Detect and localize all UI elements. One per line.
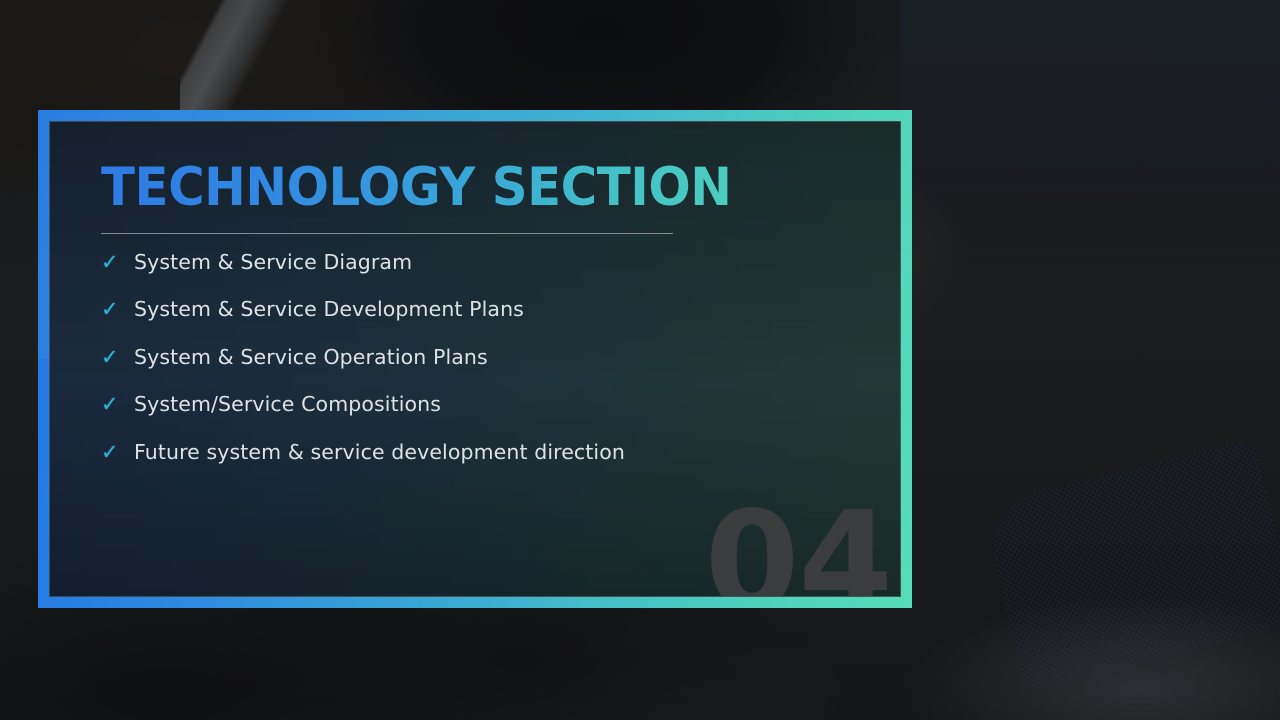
list-item: ✓ System & Service Operation Plans bbox=[101, 345, 900, 393]
list-item: ✓ System & Service Diagram bbox=[101, 250, 900, 298]
check-icon: ✓ bbox=[101, 252, 134, 273]
page-title: TECHNOLOGY SECTION bbox=[101, 160, 852, 216]
list-item-label: System & Service Development Plans bbox=[134, 297, 524, 321]
bullet-list: ✓ System & Service Diagram ✓ System & Se… bbox=[101, 250, 900, 488]
gradient-frame-border: 04 TECHNOLOGY SECTION ✓ System & Service… bbox=[38, 110, 912, 608]
list-item: ✓ System/Service Compositions bbox=[101, 392, 900, 440]
list-item-label: System/Service Compositions bbox=[134, 392, 441, 416]
list-item-label: System & Service Diagram bbox=[134, 250, 412, 274]
section-number: 04 bbox=[705, 494, 892, 597]
list-item-label: Future system & service development dire… bbox=[134, 440, 625, 464]
slide-content: TECHNOLOGY SECTION ✓ System & Service Di… bbox=[50, 122, 900, 487]
title-divider bbox=[101, 233, 673, 234]
check-icon: ✓ bbox=[101, 442, 134, 463]
list-item-label: System & Service Operation Plans bbox=[134, 345, 488, 369]
check-icon: ✓ bbox=[101, 347, 134, 368]
list-item: ✓ Future system & service development di… bbox=[101, 440, 900, 488]
check-icon: ✓ bbox=[101, 299, 134, 320]
presentation-slide: 04 TECHNOLOGY SECTION ✓ System & Service… bbox=[0, 0, 1280, 720]
content-panel: 04 TECHNOLOGY SECTION ✓ System & Service… bbox=[49, 121, 901, 597]
check-icon: ✓ bbox=[101, 394, 134, 415]
list-item: ✓ System & Service Development Plans bbox=[101, 297, 900, 345]
